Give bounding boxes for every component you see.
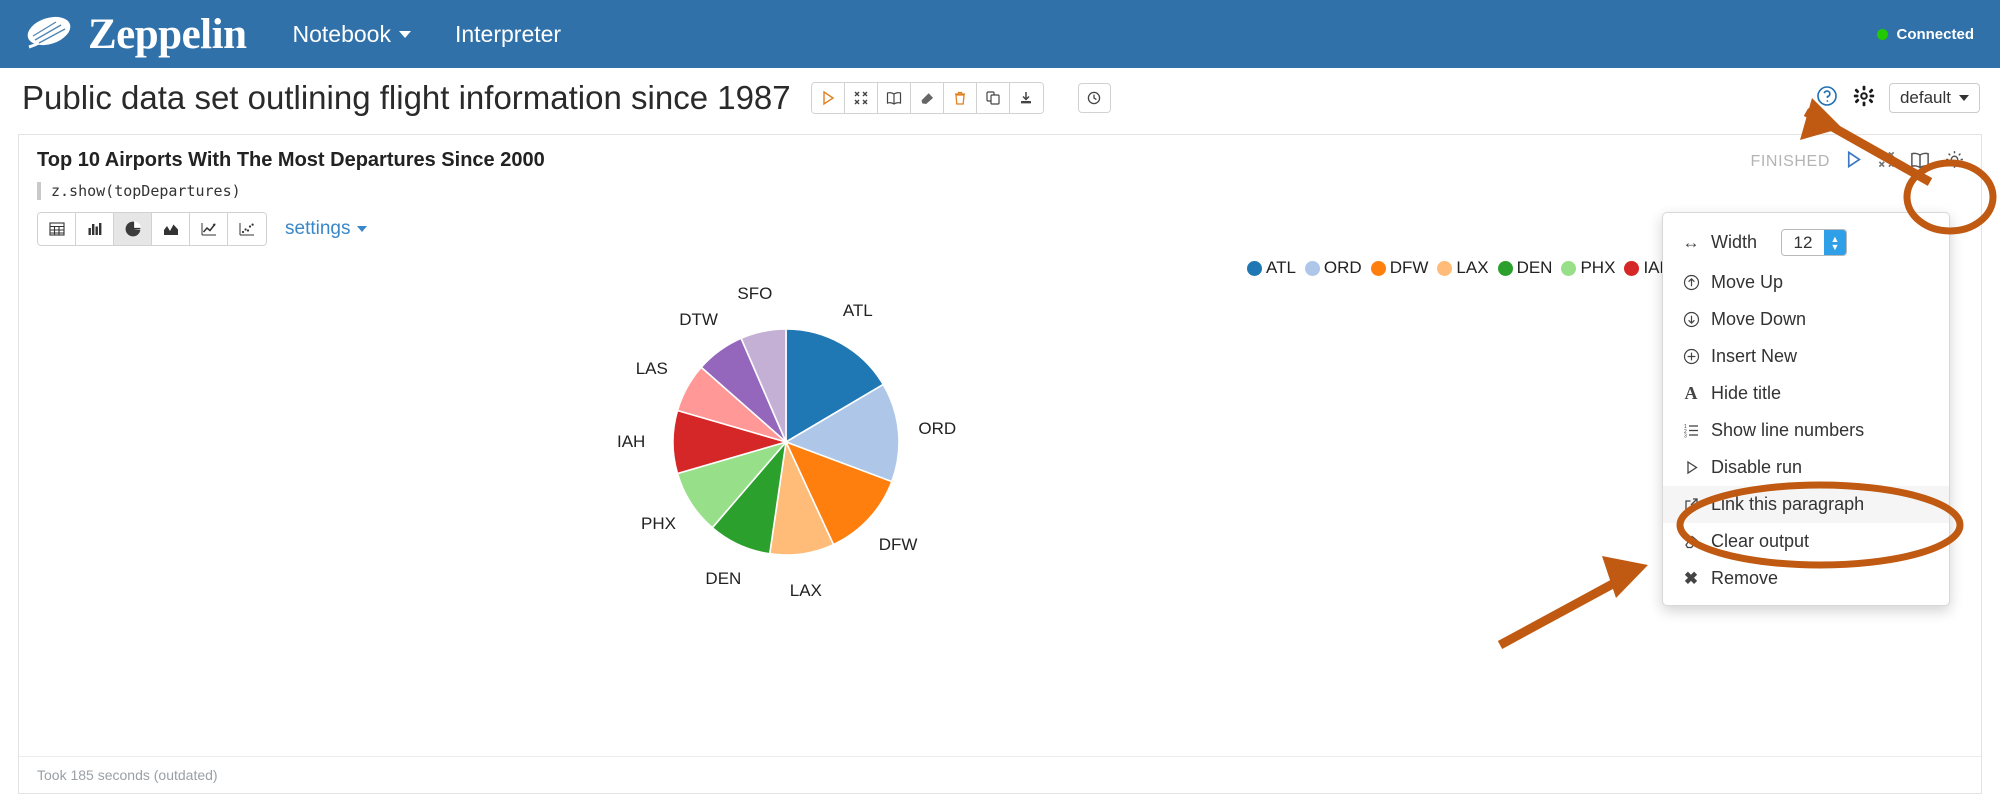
stepper-arrows-icon[interactable]: ▲ ▼ <box>1824 230 1846 255</box>
paragraph-title[interactable]: Top 10 Airports With The Most Departures… <box>37 149 1963 172</box>
pie-label-atl: ATL <box>843 301 873 321</box>
legend-label: LAX <box>1456 258 1488 278</box>
menu-item-label: Move Down <box>1711 309 1806 330</box>
pie-label-las: LAS <box>636 359 668 379</box>
chart-type-scatter-button[interactable] <box>228 213 266 245</box>
legend-item-atl[interactable]: ATL <box>1247 258 1296 278</box>
pie-label-iah: IAH <box>617 432 645 452</box>
nav-item-interpreter[interactable]: Interpreter <box>455 21 561 48</box>
plus-circle-icon <box>1681 348 1701 365</box>
chart-type-line-button[interactable] <box>190 213 228 245</box>
legend-item-phx[interactable]: PHX <box>1561 258 1615 278</box>
menu-item-move-down[interactable]: Move Down <box>1663 301 1949 338</box>
width-input[interactable]: 12 <box>1782 230 1824 255</box>
chart-type-area-button[interactable] <box>152 213 190 245</box>
legend-label: ATL <box>1266 258 1296 278</box>
menu-item-insert-new[interactable]: Insert New <box>1663 338 1949 375</box>
legend-label: ORD <box>1324 258 1362 278</box>
legend-label: DFW <box>1390 258 1429 278</box>
code-text: z.show(topDepartures) <box>51 182 241 200</box>
menu-item-remove[interactable]: ✖Remove <box>1663 560 1949 597</box>
note-header: Public data set outlining flight informa… <box>0 68 2000 128</box>
stepper-down-icon[interactable]: ▼ <box>1831 243 1840 251</box>
menu-item-hide-title[interactable]: AHide title <box>1663 375 1949 412</box>
paragraph-footer-status: Took 185 seconds (outdated) <box>19 756 1981 793</box>
menu-item-label: Link this paragraph <box>1711 494 1864 515</box>
zeppelin-logo-icon <box>22 14 74 54</box>
external-link-icon <box>1681 496 1701 513</box>
chart-type-pie-button[interactable] <box>114 213 152 245</box>
chevron-down-icon <box>1959 95 1969 101</box>
nav-links: Notebook Interpreter <box>293 21 562 48</box>
pie-label-dfw: DFW <box>879 535 918 555</box>
menu-item-link-this-paragraph[interactable]: Link this paragraph <box>1663 486 1949 523</box>
width-stepper[interactable]: 12 ▲ ▼ <box>1781 229 1847 256</box>
legend-swatch-icon <box>1305 261 1320 276</box>
pie-label-phx: PHX <box>641 514 676 534</box>
chevron-down-icon <box>399 31 411 38</box>
paragraph-collapse-icon[interactable] <box>1877 150 1896 174</box>
scheduler-button[interactable] <box>1078 83 1111 113</box>
connection-status-label: Connected <box>1896 26 1974 43</box>
times-icon: ✖ <box>1681 569 1701 589</box>
font-icon: A <box>1681 383 1701 404</box>
legend-swatch-icon <box>1624 261 1639 276</box>
menu-item-disable-run[interactable]: Disable run <box>1663 449 1949 486</box>
pie-label-den: DEN <box>705 569 741 589</box>
chevron-down-icon <box>357 226 367 232</box>
arrows-horizontal-icon: ↔ <box>1681 233 1701 253</box>
connection-dot-icon <box>1877 29 1888 40</box>
paragraph-status-bar: FINISHED <box>1751 149 1965 175</box>
menu-item-show-line-numbers[interactable]: 123Show line numbers <box>1663 412 1949 449</box>
paragraph-book-icon[interactable] <box>1910 150 1930 175</box>
interpreter-binding-select[interactable]: default <box>1889 83 1980 113</box>
chart-type-buttons <box>37 212 267 246</box>
paragraph-settings-menu: ↔ Width 12 ▲ ▼ Move UpMove DownInsert Ne… <box>1662 212 1950 606</box>
run-all-button[interactable] <box>812 83 845 113</box>
connection-status[interactable]: Connected <box>1877 26 1974 43</box>
legend-swatch-icon <box>1371 261 1386 276</box>
arrow-down-circle-icon <box>1681 311 1701 328</box>
legend-swatch-icon <box>1247 261 1262 276</box>
legend-item-den[interactable]: DEN <box>1498 258 1553 278</box>
legend-swatch-icon <box>1498 261 1513 276</box>
menu-item-clear-output[interactable]: Clear output <box>1663 523 1949 560</box>
nav-item-interpreter-label: Interpreter <box>455 21 561 48</box>
code-editor[interactable]: z.show(topDepartures) <box>37 182 1963 200</box>
paragraph-run-icon[interactable] <box>1844 150 1863 174</box>
chart-type-bar-button[interactable] <box>76 213 114 245</box>
menu-item-label: Disable run <box>1711 457 1802 478</box>
chart-settings-label: settings <box>285 218 350 240</box>
help-icon[interactable] <box>1815 84 1839 113</box>
gear-icon[interactable] <box>1853 85 1875 112</box>
brand-home-link[interactable]: Zeppelin <box>22 13 247 56</box>
export-note-button[interactable] <box>1010 83 1043 113</box>
legend-swatch-icon <box>1561 261 1576 276</box>
legend-swatch-icon <box>1437 261 1452 276</box>
legend-label: DEN <box>1517 258 1553 278</box>
pie-label-dtw: DTW <box>679 310 718 330</box>
clear-output-button[interactable] <box>911 83 944 113</box>
pie-label-ord: ORD <box>918 419 956 439</box>
menu-item-move-up[interactable]: Move Up <box>1663 264 1949 301</box>
chart-legend: ATLORDDFWLAXDENPHXIAH <box>1247 258 1696 278</box>
play-outline-icon <box>1681 459 1701 476</box>
paragraph-status-label: FINISHED <box>1751 153 1830 171</box>
show-code-button[interactable] <box>878 83 911 113</box>
menu-item-label: Insert New <box>1711 346 1797 367</box>
list-ol-icon: 123 <box>1681 422 1701 439</box>
pie-chart: ATLORDDFWLAXDENPHXIAHLASDTWSFO <box>671 292 1031 597</box>
legend-item-ord[interactable]: ORD <box>1305 258 1362 278</box>
svg-text:3: 3 <box>1684 434 1687 440</box>
clone-note-button[interactable] <box>977 83 1010 113</box>
legend-item-dfw[interactable]: DFW <box>1371 258 1429 278</box>
menu-item-label: Move Up <box>1711 272 1783 293</box>
legend-label: PHX <box>1580 258 1615 278</box>
chart-settings-toggle[interactable]: settings <box>285 218 367 240</box>
interpreter-binding-label: default <box>1900 88 1951 108</box>
legend-item-lax[interactable]: LAX <box>1437 258 1488 278</box>
collapse-all-button[interactable] <box>845 83 878 113</box>
nav-item-notebook[interactable]: Notebook <box>293 21 411 48</box>
arrow-up-circle-icon <box>1681 274 1701 291</box>
nav-item-notebook-label: Notebook <box>293 21 391 48</box>
menu-item-width-label: Width <box>1711 232 1757 253</box>
brand-name: Zeppelin <box>88 13 247 56</box>
paragraph-settings-gear-icon[interactable] <box>1944 149 1965 175</box>
eraser-icon <box>1681 533 1701 550</box>
delete-note-button[interactable] <box>944 83 977 113</box>
chart-type-table-button[interactable] <box>38 213 76 245</box>
pie-label-lax: LAX <box>790 581 822 601</box>
menu-item-width[interactable]: ↔ Width 12 ▲ ▼ <box>1663 221 1949 264</box>
menu-item-label: Show line numbers <box>1711 420 1864 441</box>
top-navbar: Zeppelin Notebook Interpreter Connected <box>0 0 2000 68</box>
note-title[interactable]: Public data set outlining flight informa… <box>22 79 791 117</box>
pie-label-sfo: SFO <box>737 284 772 304</box>
menu-item-label: Remove <box>1711 568 1778 589</box>
menu-item-label: Hide title <box>1711 383 1781 404</box>
pie-chart-svg[interactable] <box>671 292 1031 592</box>
note-header-actions: default <box>1815 83 1980 113</box>
note-toolbar <box>811 82 1044 114</box>
menu-item-label: Clear output <box>1711 531 1809 552</box>
